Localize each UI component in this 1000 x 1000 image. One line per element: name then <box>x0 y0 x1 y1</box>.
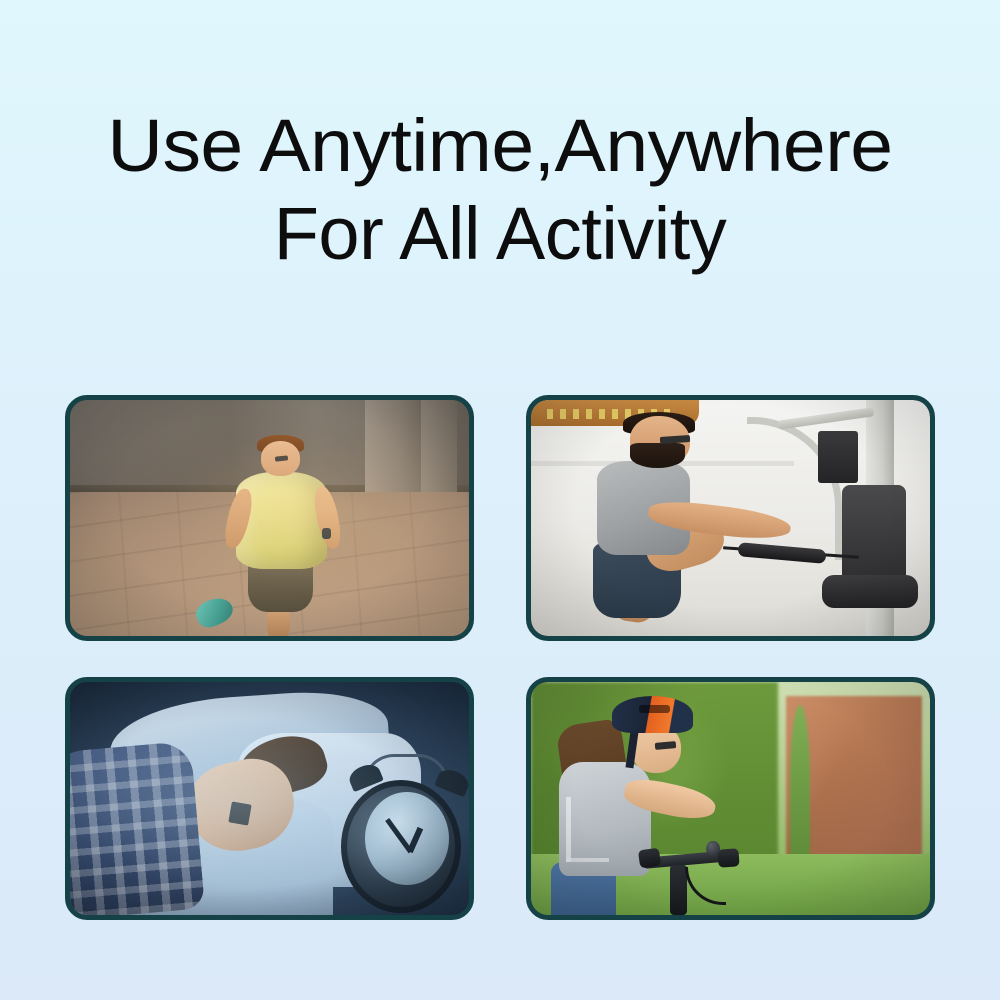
product-feature-page: Use Anytime,Anywhere For All Activity <box>0 0 1000 1000</box>
cyclist-figure <box>555 696 747 915</box>
page-title-line-1: Use Anytime,Anywhere <box>0 102 1000 190</box>
photo-sleeping <box>70 682 469 915</box>
photo-rowing <box>531 400 930 636</box>
activity-photo-grid <box>65 395 935 920</box>
page-title-line-2: For All Activity <box>0 190 1000 278</box>
page-title: Use Anytime,Anywhere For All Activity <box>0 102 1000 278</box>
bike-helmet <box>612 696 692 733</box>
photo-running <box>70 400 469 636</box>
photo-cycling <box>531 682 930 915</box>
photo-card-sleeping <box>65 677 474 920</box>
scene-cycling <box>531 682 930 915</box>
photo-card-cycling <box>526 677 935 920</box>
bike-bell <box>706 841 719 856</box>
scene-sleeping <box>70 682 469 915</box>
photo-card-running <box>65 395 474 641</box>
scene-running <box>70 400 469 636</box>
rower-figure <box>579 412 810 636</box>
photo-card-rowing <box>526 395 935 641</box>
scene-rowing <box>531 400 930 636</box>
